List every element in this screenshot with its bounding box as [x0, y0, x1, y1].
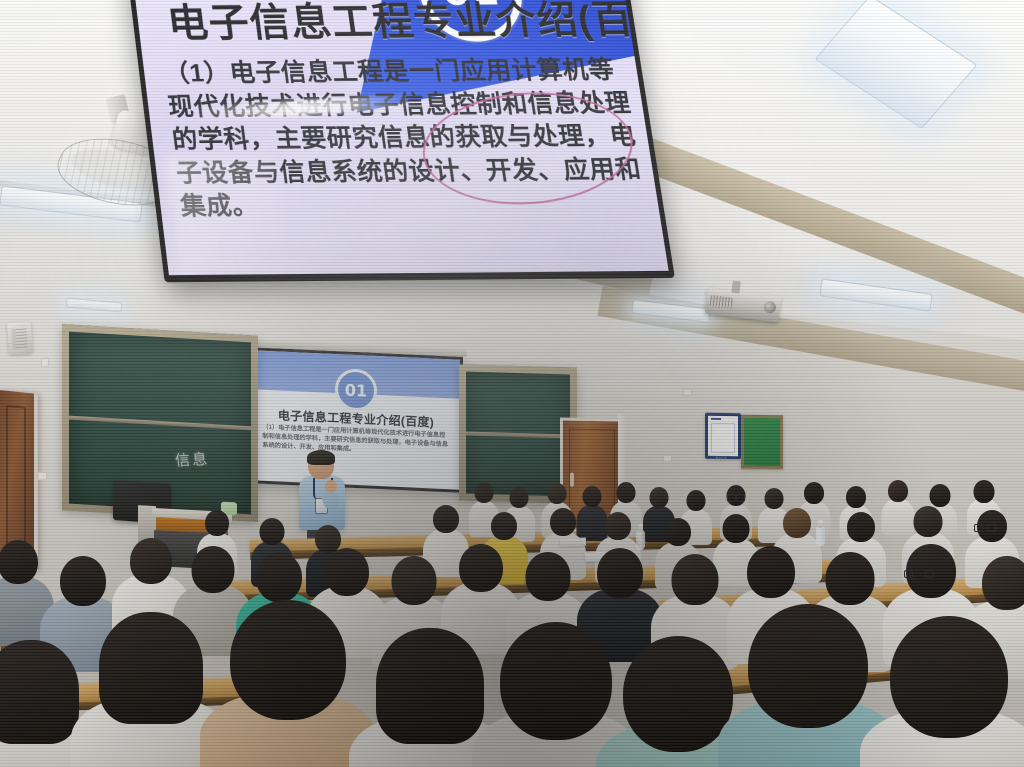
green-bulletin-board: [741, 415, 783, 470]
student-head: [826, 552, 875, 605]
wall-mounted-tv: 01 电子信息工程专业介绍(百度) （1）电子信息工程是一门应用计算机等现代化技…: [127, 0, 674, 282]
student-head: [0, 640, 79, 744]
tv-bezel: 01 电子信息工程专业介绍(百度) （1）电子信息工程是一门应用计算机等现代化技…: [127, 0, 674, 282]
student: [96, 612, 206, 767]
student-head: [475, 482, 494, 503]
projection-screen-frame: 01 电子信息工程专业介绍(百度) （1）电子信息工程是一门应用计算机等现代化技…: [249, 347, 463, 493]
paper-sheet: [560, 538, 586, 547]
presenter-hair: [307, 450, 335, 465]
student-head: [765, 488, 784, 509]
student: [226, 600, 350, 767]
water-bottle: [636, 524, 645, 550]
student-head: [982, 556, 1024, 610]
student-head: [192, 546, 235, 593]
projection-screen: 01 电子信息工程专业介绍(百度) （1）电子信息工程是一门应用计算机等现代化技…: [249, 347, 463, 493]
wall-outlet: [683, 389, 692, 396]
student-head: [500, 622, 612, 740]
eyeglasses-icon: [727, 494, 745, 500]
student-head: [230, 600, 346, 720]
projector-mount: [731, 281, 740, 294]
student-head: [256, 552, 302, 602]
water-bottle: [816, 520, 825, 546]
student-head: [130, 538, 172, 584]
student: [886, 616, 1012, 767]
wall-outlet: [41, 358, 49, 367]
student-head: [650, 487, 669, 508]
lecture-hall-photo: 01 电子信息工程专业介绍(百度) （1）电子信息工程是一门应用计算机等现代化技…: [0, 0, 1024, 767]
student-head: [597, 548, 643, 598]
student-head: [392, 556, 437, 605]
blackboard-divider: [466, 431, 570, 438]
screen-glare: [164, 155, 289, 275]
student-head: [617, 482, 636, 503]
chalk-writing: 信息: [174, 448, 210, 471]
student-head: [459, 544, 503, 592]
bottle-cap: [638, 524, 643, 532]
student-head: [260, 518, 285, 545]
eyeglasses-icon: [904, 570, 934, 580]
wall-outlet: [38, 472, 47, 480]
student-head: [723, 514, 750, 543]
bottle-cap: [818, 520, 823, 528]
student-head: [526, 552, 571, 601]
presenter-hand: [325, 480, 337, 493]
student-head: [847, 512, 875, 542]
student-head: [804, 482, 824, 504]
student-head: [672, 554, 719, 605]
student-head: [550, 508, 576, 536]
student-head: [623, 636, 733, 752]
student-head: [687, 490, 706, 511]
student-head: [510, 487, 529, 508]
student-head: [491, 512, 517, 540]
student: [744, 604, 872, 767]
blackboard-divider: [69, 416, 251, 431]
wall-outlet: [663, 455, 672, 462]
student-head: [583, 486, 602, 507]
student-head: [548, 483, 567, 504]
student-head: [888, 480, 908, 502]
student-head: [890, 616, 1008, 738]
student-head: [433, 505, 459, 533]
student-head: [205, 510, 229, 536]
student-head: [0, 540, 38, 584]
slide-title: 电子信息工程专业介绍(百度): [164, 0, 623, 48]
student-head: [99, 612, 203, 724]
wall-speaker: [7, 321, 33, 355]
projection-screen-canvas: 01 电子信息工程专业介绍(百度) （1）电子信息工程是一门应用计算机等现代化技…: [252, 350, 460, 489]
student-head: [747, 546, 795, 598]
student-head: [60, 556, 106, 606]
student-head: [376, 628, 484, 744]
student-head: [665, 518, 691, 546]
student-head: [605, 512, 631, 540]
student-head: [974, 480, 995, 503]
student-head: [914, 506, 943, 537]
projector-vent: [710, 295, 733, 310]
bottle-body: [636, 530, 645, 550]
notice-board: [705, 413, 741, 460]
student: [372, 628, 488, 767]
bottle-body: [816, 526, 825, 546]
student: [496, 622, 616, 767]
student-head: [748, 604, 868, 728]
tv-screen: 01 电子信息工程专业介绍(百度) （1）电子信息工程是一门应用计算机等现代化技…: [133, 0, 669, 275]
student-head: [846, 486, 866, 508]
notice-board-caption: 课程表: [700, 456, 742, 462]
student-head: [930, 484, 951, 507]
student-head: [325, 548, 369, 596]
student-head: [783, 508, 811, 538]
eyeglasses-icon: [974, 524, 996, 530]
student: [0, 540, 46, 636]
